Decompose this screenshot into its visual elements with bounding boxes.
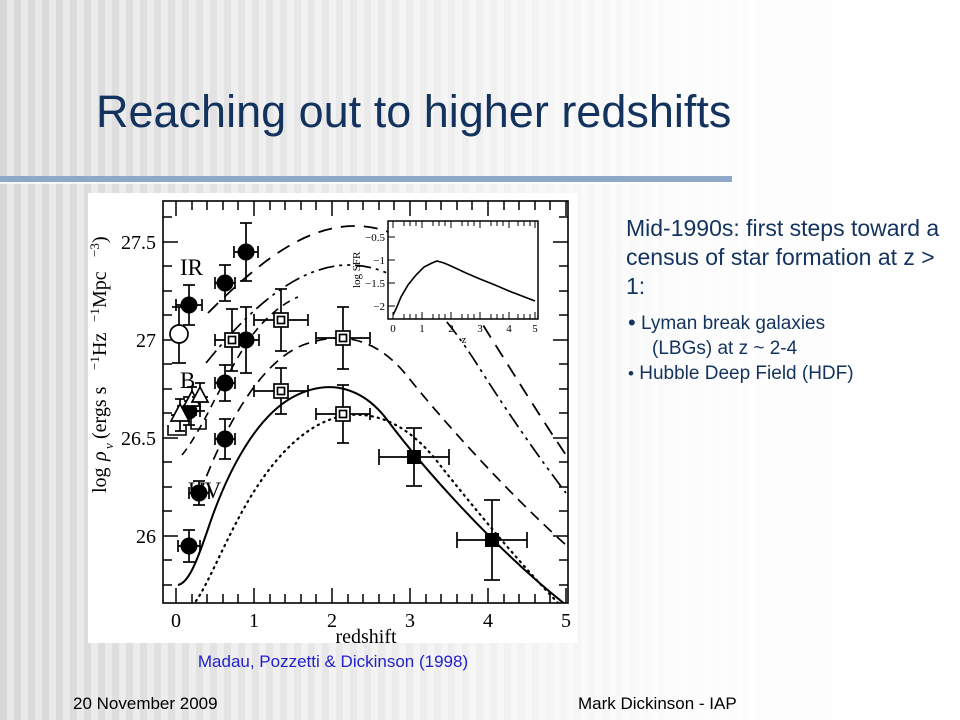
svg-text:log: log [89,467,111,493]
svg-text:−1: −1 [88,308,102,322]
svg-text:4: 4 [483,610,493,632]
list-item-label: Lyman break galaxies [641,313,825,334]
title-divider-highlight [0,182,732,184]
svg-text:Hz: Hz [89,333,111,356]
svg-text:IR: IR [180,255,204,280]
svg-text:0: 0 [390,323,396,335]
svg-text:ν: ν [101,443,116,449]
svg-text:−3: −3 [88,243,102,257]
svg-text:−0.5: −0.5 [365,232,385,244]
svg-text:4: 4 [506,323,512,335]
figure-caption: Madau, Pozzetti & Dickinson (1998) [88,652,578,672]
svg-text:(ergs s: (ergs s [89,386,111,439]
x-axis-title: redshift [335,626,397,643]
svg-text:0: 0 [171,610,181,632]
inset-x-axis-title: z [462,334,467,346]
svg-text:5: 5 [561,610,571,632]
svg-text:26.5: 26.5 [121,428,156,450]
svg-text:26: 26 [136,526,156,548]
list-item: • Lyman break galaxies (LBGs) at z ~ 2-4 [626,310,946,361]
body-text-block: Mid-1990s: first steps toward a census o… [626,214,946,386]
svg-text:3: 3 [405,610,415,632]
footer-author: Mark Dickinson - IAP [578,694,737,714]
svg-text:B: B [180,368,195,393]
svg-text:3: 3 [477,323,483,335]
svg-text:−2: −2 [373,301,385,313]
svg-text:−1: −1 [373,255,385,267]
svg-text:Mpc: Mpc [89,271,111,308]
inset-y-axis-title: log SFR [351,251,363,288]
svg-text:2: 2 [448,323,454,335]
footer-date: 20 November 2009 [73,694,218,714]
bullet-marker-icon: • [628,310,636,335]
bullet-marker-icon: • [628,364,634,383]
svg-text:1: 1 [419,323,425,335]
list-item: • Hubble Deep Field (HDF) [626,361,946,386]
svg-text:−1: −1 [88,356,102,370]
svg-text:27.5: 27.5 [121,232,156,254]
svg-text:1: 1 [249,610,259,632]
list-item-label-continued: (LBGs) at z ~ 2-4 [628,336,946,361]
svg-text:): ) [89,236,111,243]
figure-image: log ρ ν (ergs s −1 Hz −1 Mpc −3 ) [88,193,578,643]
page-title: Reaching out to higher redshifts [96,86,916,138]
list-item-label: Hubble Deep Field (HDF) [639,363,853,384]
svg-text:5: 5 [532,323,538,335]
svg-text:−1.5: −1.5 [365,278,385,290]
bullet-list: • Lyman break galaxies (LBGs) at z ~ 2-4… [626,310,946,386]
svg-text:27: 27 [136,330,156,352]
svg-text:ρ: ρ [89,451,111,462]
body-lead-paragraph: Mid-1990s: first steps toward a census o… [626,214,946,301]
svg-text:UV: UV [188,478,222,503]
